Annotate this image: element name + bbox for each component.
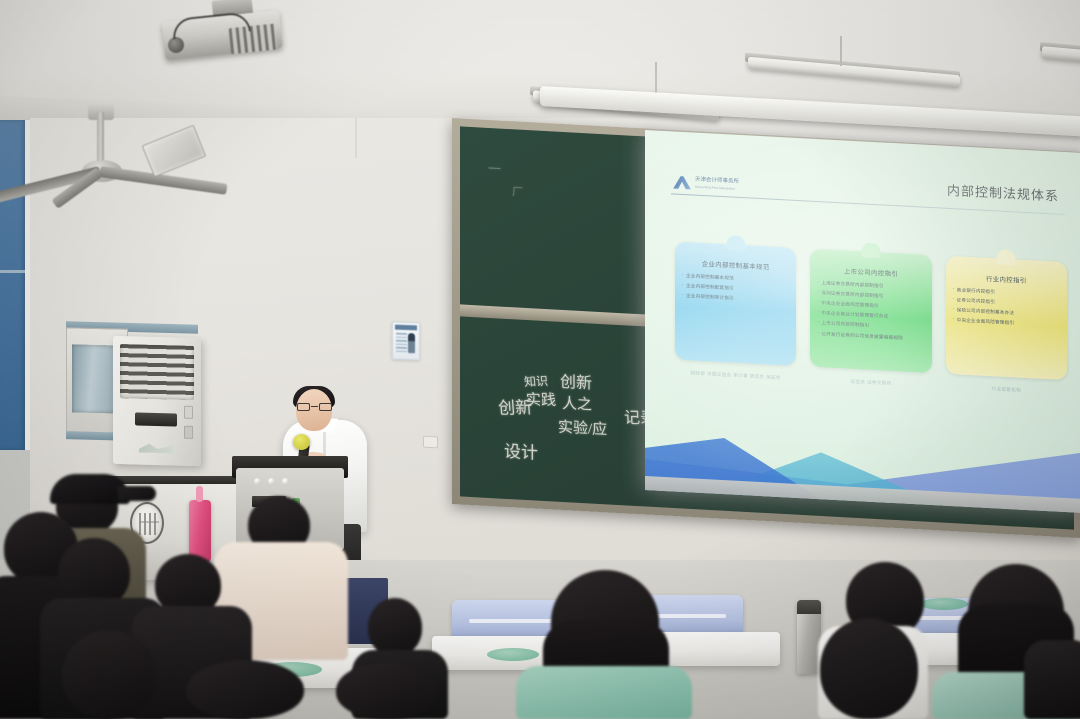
pink-water-bottle (189, 500, 211, 562)
poster-person-icon (408, 333, 415, 353)
podium-control-buttons[interactable] (254, 478, 289, 485)
card-title: 行业内控指引 (953, 272, 1060, 287)
fan-downrod (97, 112, 104, 164)
card-bullet-list: 商业银行内控指引 证券公司内控指引 保险公司内部控制基本办法 中央企业全面风险管… (953, 287, 1060, 330)
ac-indicator (184, 426, 193, 439)
slide-card-yellow: 行业内控指引 商业银行内控指引 证券公司内控指引 保险公司内部控制基本办法 中央… (946, 256, 1067, 380)
student-head (62, 630, 156, 719)
chalk-note: 厂 (512, 183, 523, 200)
floor-standing-air-conditioner (113, 336, 201, 466)
left-window (0, 120, 30, 450)
logo-text: 天津会计师事务所 Accounting Firm Association (695, 177, 739, 193)
light-bracket (840, 36, 842, 66)
cap-brim (118, 486, 156, 501)
card-title: 上市公司内控指引 (817, 265, 924, 280)
projection-screen: 内部控制法规体系 天津会计师事务所 Accounting Firm Associ… (645, 130, 1080, 513)
student-head (336, 662, 440, 719)
microphone-windscreen (293, 434, 310, 450)
poster-header-bar (395, 325, 417, 331)
card-footer: 财政部 中国证监会 审计署 银监会 保监会 (675, 370, 796, 384)
chalk-note: 设计 (504, 437, 538, 464)
desk-inlay (487, 648, 539, 661)
slide-card-blue: 企业内部控制基本规范 企业内部控制基本规范 企业内部控制配套指引 企业内部控制审… (675, 242, 796, 366)
chalk-note: 人之 (562, 392, 592, 415)
wall-socket (423, 436, 438, 449)
slide-card-row: 企业内部控制基本规范 企业内部控制基本规范 企业内部控制配套指引 企业内部控制审… (675, 242, 1067, 381)
card-knob-icon (997, 249, 1016, 265)
chalk-note: 实验/应 (558, 416, 607, 440)
slide-title: 内部控制法规体系 (947, 180, 1059, 205)
glasses-icon (297, 403, 332, 411)
card-bullet: 公开发行证券的公司信息披露编报规则 (817, 331, 924, 344)
card-bullet-list: 企业内部控制基本规范 企业内部控制配套指引 企业内部控制审计指引 (682, 273, 789, 306)
student-head (368, 598, 422, 656)
wall-safety-notice (392, 322, 420, 361)
student-head (820, 618, 918, 719)
chalk-note: 知识 (523, 372, 548, 390)
poster-text-lines (396, 333, 407, 354)
card-bullet: 中央企业全面风险管理指引 (953, 317, 1060, 330)
slide-card-green: 上市公司内控指引 上海证券交易所内部控制指引 深圳证券交易所内部控制指引 中央企… (810, 249, 931, 373)
student-torso (516, 666, 692, 719)
chalk-note: 一 (488, 158, 501, 178)
card-footer: 证监会 证券交易所 (810, 377, 931, 391)
logo-mark-icon (673, 176, 691, 190)
logo-name: 天津会计师事务所 (695, 177, 739, 185)
slide-logo: 天津会计师事务所 Accounting Firm Association (673, 175, 739, 192)
ac-display-panel (135, 412, 177, 426)
window-mullion (0, 270, 25, 273)
card-knob-icon (726, 235, 745, 251)
card-footer: 行业监管机构 (946, 384, 1067, 398)
desk-inlay (920, 598, 968, 610)
chalk-note: 创新 (560, 368, 592, 394)
chalk-note: 实践 (525, 389, 556, 410)
ac-brand-logo-icon (139, 444, 173, 454)
ac-vent-grille (120, 344, 194, 400)
ceiling-fan (100, 112, 104, 116)
card-knob-icon (861, 242, 880, 258)
wall-seam (355, 118, 357, 158)
student-head (186, 660, 304, 719)
card-bullet-list: 上海证券交易所内部控制指引 深圳证券交易所内部控制指引 中央企业全面风险管理指引… (817, 280, 924, 343)
card-bullet: 企业内部控制审计指引 (682, 293, 789, 306)
card-title: 企业内部控制基本规范 (682, 258, 789, 273)
student-torso (1024, 640, 1080, 719)
logo-subtitle: Accounting Firm Association (695, 184, 735, 190)
lecture-hall-photo: 一 厂 创新 实践 知识 创新 人之 实验/应 记录 设计 内部控制法规体系 天… (0, 0, 1080, 719)
ac-indicator (184, 406, 193, 419)
